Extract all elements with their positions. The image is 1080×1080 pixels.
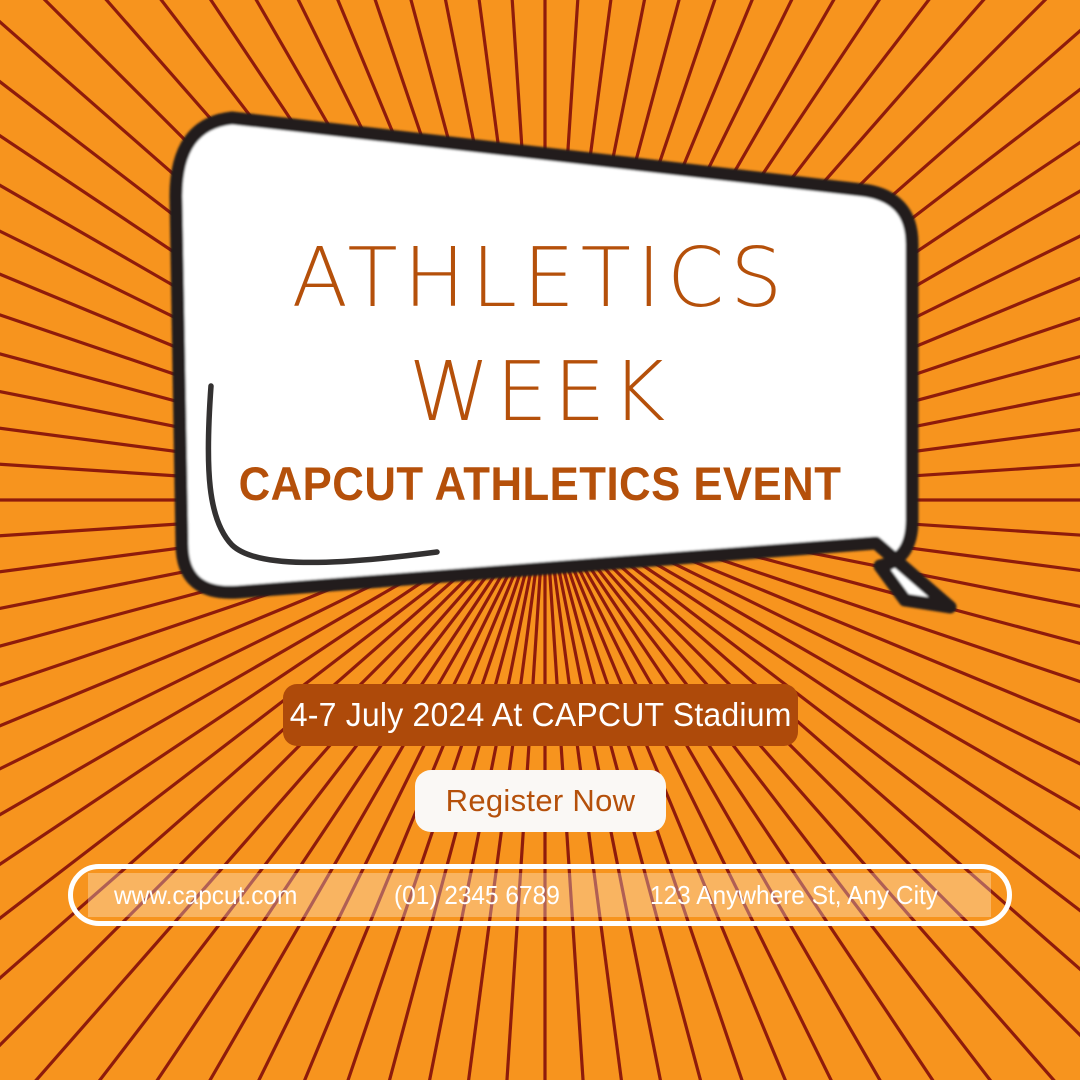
bubble-body (176, 118, 950, 607)
footer-contact-row: www.capcut.com (01) 2345 6789 123 Anywhe… (68, 864, 1012, 926)
date-badge: 4-7 July 2024 At CAPCUT Stadium (283, 684, 798, 746)
footer-phone[interactable]: (01) 2345 6789 (394, 880, 560, 911)
register-now-label: Register Now (446, 783, 636, 819)
footer-website[interactable]: www.capcut.com (114, 880, 297, 911)
date-badge-label: 4-7 July 2024 At CAPCUT Stadium (290, 696, 792, 734)
poster-canvas: ATHLETICS WEEK CAPCUT ATHLETICS EVENT 4-… (0, 0, 1080, 1080)
register-now-button[interactable]: Register Now (415, 770, 666, 832)
footer-address: 123 Anywhere St, Any City (650, 880, 938, 911)
